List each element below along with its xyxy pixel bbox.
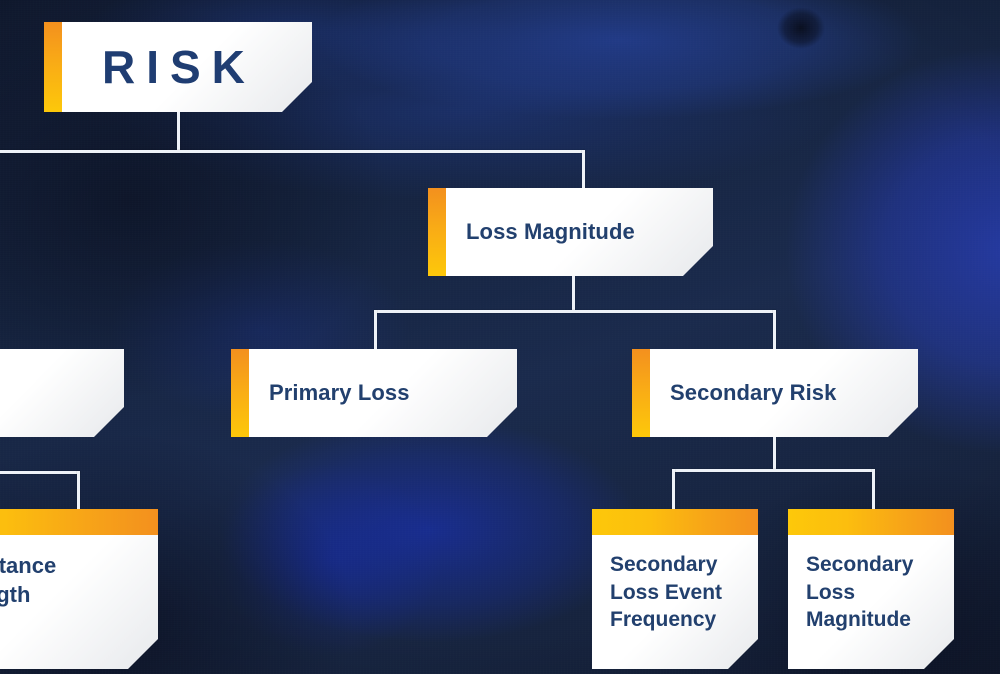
accent-bar-secondary-loss-event-frequency xyxy=(592,509,758,535)
node-loss-magnitude-label: Loss Magnitude xyxy=(446,219,713,245)
diagram-canvas: RISK Loss Magnitude lity Primary Loss Se… xyxy=(0,0,1000,674)
accent-bar-loss-magnitude xyxy=(428,188,446,276)
node-secondary-risk[interactable]: Secondary Risk xyxy=(632,349,918,437)
node-risk[interactable]: RISK xyxy=(44,22,312,112)
node-secondary-loss-event-frequency-label: Secondary Loss Event Frequency xyxy=(592,535,758,669)
connector-loss-magnitude-down xyxy=(572,276,575,312)
node-vulnerability[interactable]: lity xyxy=(0,349,124,437)
node-primary-loss[interactable]: Primary Loss xyxy=(231,349,517,437)
connector-secondary-risk-down xyxy=(773,437,776,471)
node-secondary-loss-magnitude[interactable]: Secondary Loss Magnitude xyxy=(788,509,954,669)
accent-bar-secondary-loss-magnitude xyxy=(788,509,954,535)
connector-bus-to-primary-loss xyxy=(374,310,377,351)
node-risk-label: RISK xyxy=(62,40,312,94)
connector-bus-to-sle-frequency xyxy=(672,469,675,511)
connector-bus-to-loss-magnitude xyxy=(582,150,585,190)
connector-vulnerability-bus xyxy=(0,471,80,474)
node-secondary-risk-label: Secondary Risk xyxy=(650,380,918,406)
accent-bar-primary-loss xyxy=(231,349,249,437)
connector-bus-to-sl-magnitude xyxy=(872,469,875,511)
connector-bus-to-resistance-strength xyxy=(77,471,80,511)
connector-level3-bus xyxy=(672,469,875,472)
node-resistance-strength[interactable]: Resistance Strength xyxy=(0,509,158,669)
node-primary-loss-label: Primary Loss xyxy=(249,380,517,406)
accent-bar-resistance-strength xyxy=(0,509,158,535)
connector-risk-down xyxy=(177,112,180,152)
node-vulnerability-label: lity xyxy=(0,380,124,406)
node-resistance-strength-label: Resistance Strength xyxy=(0,535,158,669)
node-secondary-loss-magnitude-label: Secondary Loss Magnitude xyxy=(788,535,954,669)
connector-bus-to-secondary-risk xyxy=(773,310,776,351)
node-loss-magnitude[interactable]: Loss Magnitude xyxy=(428,188,713,276)
accent-bar-risk xyxy=(44,22,62,112)
connector-level1-bus xyxy=(0,150,585,153)
accent-bar-secondary-risk xyxy=(632,349,650,437)
connector-level2-bus xyxy=(374,310,776,313)
node-secondary-loss-event-frequency[interactable]: Secondary Loss Event Frequency xyxy=(592,509,758,669)
